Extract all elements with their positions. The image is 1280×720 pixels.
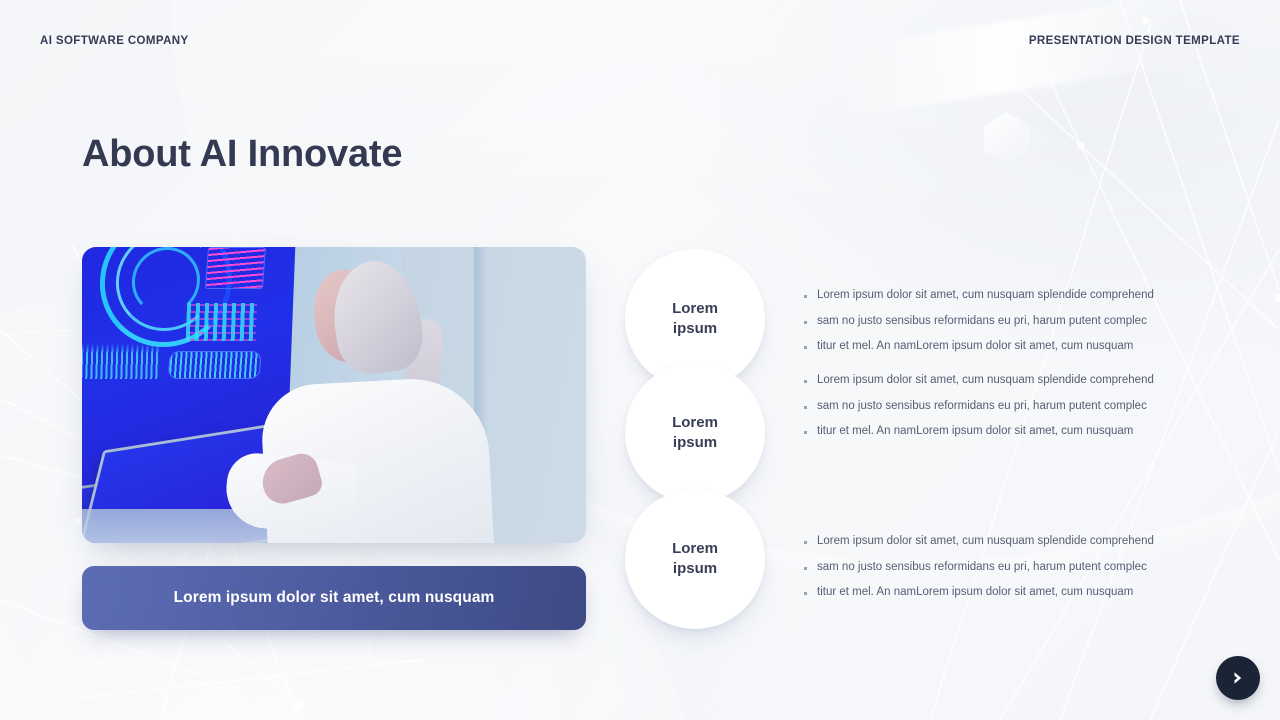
- circle-label-2: Lorem ipsum: [672, 413, 718, 453]
- light-flare-decoration: [837, 0, 1174, 117]
- bullet-text: sam no justo sensibus reformidans eu pri…: [817, 560, 1147, 576]
- chevron-right-icon: [1230, 670, 1246, 686]
- bullet-text: Lorem ipsum dolor sit amet, cum nusquam …: [817, 288, 1154, 304]
- company-label: AI SOFTWARE COMPANY: [40, 35, 189, 47]
- template-label: PRESENTATION DESIGN TEMPLATE: [1029, 35, 1240, 47]
- circle-label-3: Lorem ipsum: [672, 539, 718, 579]
- bullet-group-2: Lorem ipsum dolor sit amet, cum nusquam …: [804, 373, 1204, 450]
- circle-label-1: Lorem ipsum: [672, 299, 718, 339]
- next-slide-button[interactable]: [1216, 656, 1260, 700]
- hud-dot-grid: [186, 303, 257, 341]
- bullet-dot-icon: [804, 406, 807, 409]
- bullet-text: sam no justo sensibus reformidans eu pri…: [817, 399, 1147, 415]
- bullet-item: sam no justo sensibus reformidans eu pri…: [804, 560, 1204, 576]
- bullet-text: titur et mel. An namLorem ipsum dolor si…: [817, 339, 1133, 355]
- bullet-dot-icon: [804, 380, 807, 383]
- bullet-item: titur et mel. An namLorem ipsum dolor si…: [804, 585, 1204, 601]
- photo-card: [82, 247, 586, 543]
- bullet-item: titur et mel. An namLorem ipsum dolor si…: [804, 339, 1204, 355]
- photo-image: [82, 247, 586, 543]
- bullet-text: Lorem ipsum dolor sit amet, cum nusquam …: [817, 373, 1154, 389]
- bullet-item: sam no justo sensibus reformidans eu pri…: [804, 314, 1204, 330]
- hexagon-decoration: [984, 112, 1030, 164]
- bullet-text: titur et mel. An namLorem ipsum dolor si…: [817, 424, 1133, 440]
- caption-text: Lorem ipsum dolor sit amet, cum nusquam: [174, 589, 495, 607]
- hud-equalizer-panel: [168, 351, 262, 379]
- bullet-dot-icon: [804, 295, 807, 298]
- slide-root: AI SOFTWARE COMPANY PRESENTATION DESIGN …: [0, 0, 1280, 720]
- bullet-dot-icon: [804, 346, 807, 349]
- bullet-dot-icon: [804, 431, 807, 434]
- bullet-item: Lorem ipsum dolor sit amet, cum nusquam …: [804, 373, 1204, 389]
- circle-item-3[interactable]: Lorem ipsum: [625, 489, 765, 629]
- bullet-group-3: Lorem ipsum dolor sit amet, cum nusquam …: [804, 534, 1204, 611]
- hud-bar-chart: [82, 343, 162, 379]
- photo-person: [270, 261, 530, 543]
- hud-line-panel: [205, 247, 266, 289]
- bullet-dot-icon: [804, 567, 807, 570]
- bullet-text: sam no justo sensibus reformidans eu pri…: [817, 314, 1147, 330]
- bullet-item: sam no justo sensibus reformidans eu pri…: [804, 399, 1204, 415]
- bullet-text: titur et mel. An namLorem ipsum dolor si…: [817, 585, 1133, 601]
- bullet-dot-icon: [804, 592, 807, 595]
- page-title: About AI Innovate: [82, 133, 402, 176]
- bullet-item: Lorem ipsum dolor sit amet, cum nusquam …: [804, 534, 1204, 550]
- caption-bar[interactable]: Lorem ipsum dolor sit amet, cum nusquam: [82, 566, 586, 630]
- bullet-item: titur et mel. An namLorem ipsum dolor si…: [804, 424, 1204, 440]
- bullet-text: Lorem ipsum dolor sit amet, cum nusquam …: [817, 534, 1154, 550]
- bullet-dot-icon: [804, 321, 807, 324]
- bullet-group-1: Lorem ipsum dolor sit amet, cum nusquam …: [804, 288, 1204, 365]
- circle-item-2[interactable]: Lorem ipsum: [625, 363, 765, 503]
- bullet-item: Lorem ipsum dolor sit amet, cum nusquam …: [804, 288, 1204, 304]
- slide-header: AI SOFTWARE COMPANY PRESENTATION DESIGN …: [0, 31, 1280, 51]
- bullet-dot-icon: [804, 541, 807, 544]
